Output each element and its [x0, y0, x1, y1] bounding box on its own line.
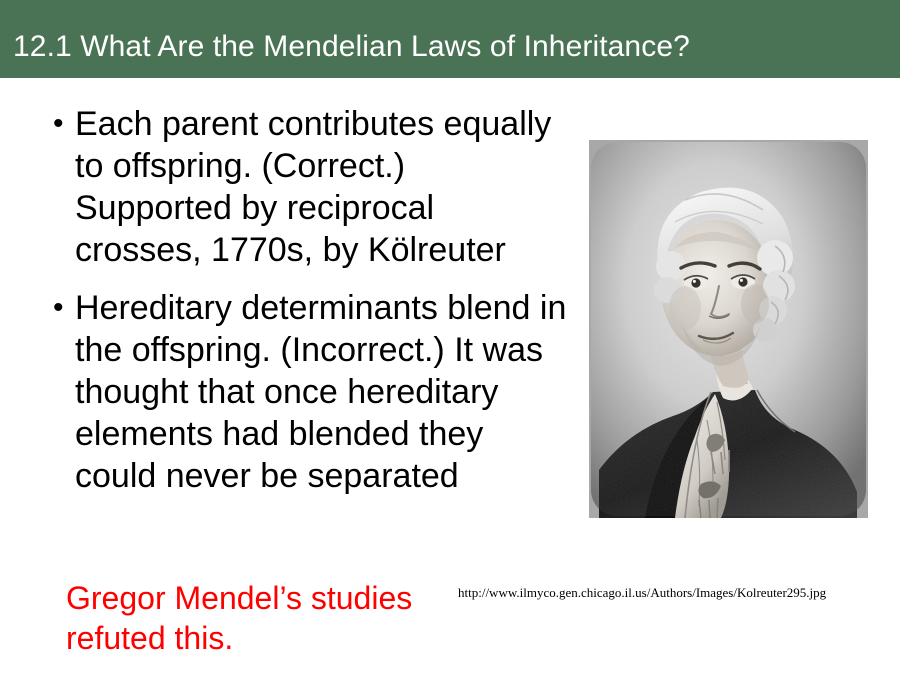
- slide: 12.1 What Are the Mendelian Laws of Inhe…: [0, 0, 900, 675]
- bullet-list: • Each parent contributes equally to off…: [48, 103, 568, 513]
- title-bar: 12.1 What Are the Mendelian Laws of Inhe…: [0, 0, 900, 78]
- list-item-label: Hereditary determinants blend in the off…: [75, 287, 568, 497]
- portrait-figure: [589, 140, 868, 518]
- bullet-dot-icon: •: [53, 103, 64, 145]
- image-credit-url: http://www.ilmyco.gen.chicago.il.us/Auth…: [458, 585, 826, 601]
- red-emphasis-note: Gregor Mendel’s studies refuted this.: [66, 578, 466, 658]
- list-item: • Each parent contributes equally to off…: [48, 103, 568, 271]
- bullet-dot-icon: •: [53, 287, 64, 329]
- list-item: • Hereditary determinants blend in the o…: [48, 287, 568, 497]
- portrait-image: [589, 140, 868, 518]
- list-item-label: Each parent contributes equally to offsp…: [75, 103, 568, 271]
- page-title: 12.1 What Are the Mendelian Laws of Inhe…: [13, 29, 690, 65]
